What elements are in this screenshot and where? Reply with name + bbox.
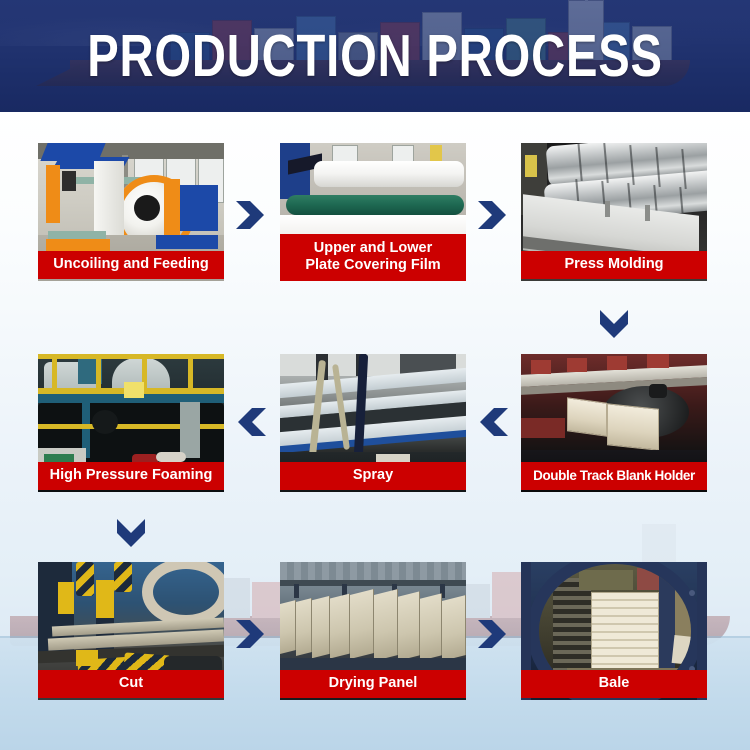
- process-step-label: Cut: [38, 670, 224, 698]
- arrow-left-step5-to-step6: [234, 405, 268, 439]
- production-process-infographic: PRODUCTION PROCESS: [0, 0, 750, 750]
- process-step-spray[interactable]: Spray: [280, 354, 466, 490]
- process-flow-board: Uncoiling and Feeding: [0, 112, 750, 750]
- arrow-down-step6-to-step7: [114, 517, 148, 551]
- process-step-label: Drying Panel: [280, 670, 466, 698]
- arrow-right-step2-to-step3: [476, 198, 510, 232]
- header-banner: PRODUCTION PROCESS: [0, 0, 750, 112]
- process-step-bale[interactable]: Bale: [521, 562, 707, 698]
- process-step-label: Spray: [280, 462, 466, 490]
- process-step-label: Upper and Lower Plate Covering Film: [280, 234, 466, 281]
- process-step-double-track-blank-holder[interactable]: Double Track Blank Holder: [521, 354, 707, 490]
- process-step-label: Uncoiling and Feeding: [38, 251, 224, 279]
- arrow-right-step8-to-step9: [476, 617, 510, 651]
- process-step-high-pressure-foaming[interactable]: High Pressure Foaming: [38, 354, 224, 490]
- process-step-label: Double Track Blank Holder: [521, 462, 707, 490]
- process-step-label: Bale: [521, 670, 707, 698]
- process-step-cut[interactable]: Cut: [38, 562, 224, 698]
- process-step-upper-and-lower-plate-covering-film[interactable]: Upper and Lower Plate Covering Film: [280, 143, 466, 281]
- process-step-press-molding[interactable]: Press Molding: [521, 143, 707, 279]
- process-step-label: Press Molding: [521, 251, 707, 279]
- arrow-left-step4-to-step5: [476, 405, 510, 439]
- page-title: PRODUCTION PROCESS: [75, 0, 675, 112]
- process-step-uncoiling-and-feeding[interactable]: Uncoiling and Feeding: [38, 143, 224, 279]
- arrow-right-step7-to-step8: [234, 617, 268, 651]
- arrow-right-step1-to-step2: [234, 198, 268, 232]
- arrow-down-step3-to-step4: [597, 308, 631, 342]
- process-step-drying-panel[interactable]: Drying Panel: [280, 562, 466, 698]
- process-step-label: High Pressure Foaming: [38, 462, 224, 490]
